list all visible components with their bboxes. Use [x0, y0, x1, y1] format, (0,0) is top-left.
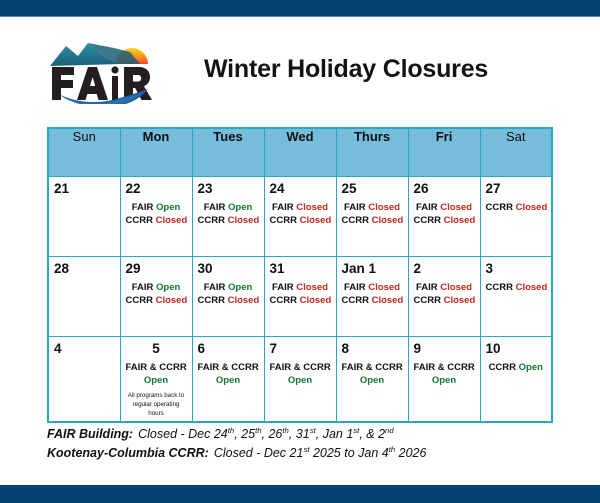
day-number: 28 [54, 261, 115, 277]
calendar-dow-wed: Wed [264, 128, 336, 176]
day-status-line: CCRR Closed [126, 295, 187, 308]
ordinal-suffix: th [389, 445, 395, 454]
status-badge: Closed [372, 215, 404, 226]
calendar-day-cell[interactable]: 26FAIR ClosedCCRR Closed [408, 176, 480, 256]
calendar-dow-mon: Mon [120, 128, 192, 176]
day-status-line: FAIR Closed [414, 202, 475, 215]
status-org-label: CCRR [489, 362, 519, 373]
calendar-day-cell[interactable]: 22FAIR OpenCCRR Closed [120, 176, 192, 256]
day-number: 27 [486, 181, 547, 197]
fair-logo-graphic [44, 36, 166, 104]
day-status-line: FAIR & CCRROpen [342, 362, 403, 387]
status-badge: Open [519, 362, 543, 373]
calendar-day-cell[interactable]: 25FAIR ClosedCCRR Closed [336, 176, 408, 256]
calendar-day-cell[interactable]: Jan 1FAIR ClosedCCRR Closed [336, 256, 408, 336]
day-status-line: CCRR Closed [198, 295, 259, 308]
day-status-list: FAIR ClosedCCRR Closed [414, 202, 475, 227]
calendar-week-row: 2829FAIR OpenCCRR Closed30FAIR OpenCCRR … [48, 256, 552, 336]
day-number: 10 [486, 341, 547, 357]
day-status-line: FAIR Closed [270, 282, 331, 295]
day-number: 8 [342, 341, 403, 357]
calendar-day-cell[interactable]: 30FAIR OpenCCRR Closed [192, 256, 264, 336]
day-status-line: CCRR Closed [198, 215, 259, 228]
status-org-label: FAIR & CCRR [342, 362, 403, 373]
calendar-day-cell[interactable]: 23FAIR OpenCCRR Closed [192, 176, 264, 256]
page-title: Winter Holiday Closures [204, 55, 488, 84]
calendar-dow-sun: Sun [48, 128, 120, 176]
day-status-line: CCRR Closed [342, 215, 403, 228]
status-org-label: CCRR [486, 202, 516, 213]
calendar-day-cell[interactable]: 4 [48, 336, 120, 422]
status-badge: Closed [296, 202, 328, 213]
calendar-dow-fri: Fri [408, 128, 480, 176]
day-status-line: CCRR Open [486, 362, 547, 375]
day-status-line: CCRR Closed [414, 295, 475, 308]
day-status-line: FAIR Open [126, 282, 187, 295]
day-number: 5 [126, 341, 187, 357]
day-status-list: FAIR & CCRROpen [414, 362, 475, 387]
status-badge: Open [228, 282, 252, 293]
calendar-day-cell[interactable]: 7FAIR & CCRROpen [264, 336, 336, 422]
status-badge: Open [414, 375, 475, 388]
day-status-list: FAIR OpenCCRR Closed [198, 282, 259, 307]
status-badge: Closed [444, 215, 476, 226]
day-status-line: FAIR Open [198, 202, 259, 215]
day-number: 26 [414, 181, 475, 197]
status-org-label: CCRR [270, 295, 300, 306]
status-org-label: CCRR [126, 295, 156, 306]
status-badge: Open [342, 375, 403, 388]
day-status-list: FAIR & CCRROpen [126, 362, 187, 387]
status-org-label: FAIR & CCRR [198, 362, 259, 373]
day-status-list: FAIR ClosedCCRR Closed [342, 202, 403, 227]
day-status-list: FAIR & CCRROpen [342, 362, 403, 387]
status-badge: Open [156, 202, 180, 213]
status-org-label: CCRR [126, 215, 156, 226]
calendar-day-cell[interactable]: 21 [48, 176, 120, 256]
ordinal-suffix: th [282, 426, 288, 435]
day-status-list: CCRR Closed [486, 282, 547, 295]
day-number: 23 [198, 181, 259, 197]
day-status-line: FAIR Open [126, 202, 187, 215]
status-badge: Closed [156, 215, 188, 226]
status-badge: Closed [440, 202, 472, 213]
status-org-label: CCRR [342, 295, 372, 306]
status-badge: Closed [228, 295, 260, 306]
day-number: 25 [342, 181, 403, 197]
day-status-line: FAIR Closed [414, 282, 475, 295]
day-status-line: FAIR Closed [270, 202, 331, 215]
status-badge: Closed [368, 282, 400, 293]
status-org-label: FAIR [344, 202, 368, 213]
status-badge: Open [228, 202, 252, 213]
status-badge: Closed [156, 295, 188, 306]
day-status-line: CCRR Closed [342, 295, 403, 308]
status-org-label: CCRR [198, 295, 228, 306]
status-badge: Closed [516, 282, 548, 293]
footnote-label: FAIR Building: [47, 427, 133, 441]
status-org-label: CCRR [270, 215, 300, 226]
calendar-dow-sat: Sat [480, 128, 552, 176]
day-number: 4 [54, 341, 115, 357]
ordinal-suffix: nd [385, 426, 394, 435]
calendar-header-row: SunMonTuesWedThursFriSat [48, 128, 552, 176]
day-status-list: FAIR ClosedCCRR Closed [270, 202, 331, 227]
ordinal-suffix: th [228, 426, 234, 435]
day-status-list: FAIR & CCRROpen [270, 362, 331, 387]
day-number: 24 [270, 181, 331, 197]
day-status-line: FAIR & CCRROpen [414, 362, 475, 387]
day-status-list: FAIR OpenCCRR Closed [198, 202, 259, 227]
status-badge: Closed [516, 202, 548, 213]
day-number: Jan 1 [342, 261, 403, 277]
status-org-label: FAIR [272, 202, 296, 213]
day-status-list: CCRR Open [486, 362, 547, 375]
ordinal-suffix: st [310, 426, 316, 435]
calendar-day-cell[interactable]: 2FAIR ClosedCCRR Closed [408, 256, 480, 336]
day-number: 2 [414, 261, 475, 277]
status-badge: Open [156, 282, 180, 293]
status-badge: Closed [296, 282, 328, 293]
calendar-week-row: 2122FAIR OpenCCRR Closed23FAIR OpenCCRR … [48, 176, 552, 256]
day-note: All programs back to regular operating h… [126, 392, 187, 419]
top-accent-bar [0, 0, 600, 17]
status-badge: Closed [440, 282, 472, 293]
day-status-line: FAIR & CCRROpen [126, 362, 187, 387]
day-number: 31 [270, 261, 331, 277]
calendar-footnotes: FAIR Building:Closed - Dec 24th, 25th, 2… [47, 425, 567, 464]
status-org-label: FAIR [132, 282, 156, 293]
day-number: 9 [414, 341, 475, 357]
day-number: 7 [270, 341, 331, 357]
status-badge: Closed [444, 295, 476, 306]
day-status-list: CCRR Closed [486, 202, 547, 215]
day-status-line: CCRR Closed [270, 295, 331, 308]
day-status-line: CCRR Closed [270, 215, 331, 228]
calendar-day-cell[interactable]: 10CCRR Open [480, 336, 552, 422]
footnote-label: Kootenay-Columbia CCRR: [47, 446, 209, 460]
day-status-list: FAIR ClosedCCRR Closed [414, 282, 475, 307]
fair-logo [44, 36, 166, 104]
day-status-list: FAIR ClosedCCRR Closed [270, 282, 331, 307]
calendar-day-cell[interactable]: 28 [48, 256, 120, 336]
day-status-line: FAIR & CCRROpen [198, 362, 259, 387]
status-org-label: CCRR [414, 295, 444, 306]
status-badge: Closed [300, 295, 332, 306]
footnote-value: Closed - Dec 24th, 25th, 26th, 31st, Jan… [138, 427, 394, 441]
status-org-label: CCRR [486, 282, 516, 293]
calendar-day-cell[interactable]: 3CCRR Closed [480, 256, 552, 336]
status-org-label: FAIR [416, 282, 440, 293]
ordinal-suffix: st [353, 426, 359, 435]
calendar-week-row: 45FAIR & CCRROpenAll programs back to re… [48, 336, 552, 422]
day-status-line: CCRR Closed [414, 215, 475, 228]
footnote-row: Kootenay-Columbia CCRR:Closed - Dec 21st… [47, 444, 567, 463]
day-status-line: FAIR Closed [342, 202, 403, 215]
status-org-label: CCRR [198, 215, 228, 226]
calendar-day-cell[interactable]: 24FAIR ClosedCCRR Closed [264, 176, 336, 256]
status-org-label: FAIR [272, 282, 296, 293]
day-status-list: FAIR OpenCCRR Closed [126, 282, 187, 307]
day-status-line: FAIR & CCRROpen [270, 362, 331, 387]
day-number: 3 [486, 261, 547, 277]
status-org-label: FAIR [204, 202, 228, 213]
day-status-list: FAIR OpenCCRR Closed [126, 202, 187, 227]
status-org-label: CCRR [414, 215, 444, 226]
calendar-day-cell[interactable]: 5FAIR & CCRROpenAll programs back to reg… [120, 336, 192, 422]
status-badge: Closed [372, 295, 404, 306]
footnote-row: FAIR Building:Closed - Dec 24th, 25th, 2… [47, 425, 567, 444]
status-org-label: FAIR [344, 282, 368, 293]
ordinal-suffix: st [303, 445, 309, 454]
day-status-line: CCRR Closed [126, 215, 187, 228]
status-org-label: FAIR [132, 202, 156, 213]
footnote-value: Closed - Dec 21st 2025 to Jan 4th 2026 [214, 446, 427, 460]
day-status-line: FAIR Closed [342, 282, 403, 295]
status-badge: Open [126, 375, 187, 388]
day-status-line: CCRR Closed [486, 282, 547, 295]
status-badge: Closed [368, 202, 400, 213]
status-org-label: FAIR [416, 202, 440, 213]
day-number: 29 [126, 261, 187, 277]
calendar-day-cell[interactable]: 29FAIR OpenCCRR Closed [120, 256, 192, 336]
day-number: 21 [54, 181, 115, 197]
status-badge: Closed [228, 215, 260, 226]
calendar-day-cell[interactable]: 6FAIR & CCRROpen [192, 336, 264, 422]
day-status-line: FAIR Open [198, 282, 259, 295]
calendar-day-cell[interactable]: 31FAIR ClosedCCRR Closed [264, 256, 336, 336]
calendar-day-cell[interactable]: 8FAIR & CCRROpen [336, 336, 408, 422]
status-org-label: FAIR & CCRR [414, 362, 475, 373]
status-org-label: FAIR [204, 282, 228, 293]
status-org-label: CCRR [342, 215, 372, 226]
status-badge: Closed [300, 215, 332, 226]
day-number: 22 [126, 181, 187, 197]
status-badge: Open [270, 375, 331, 388]
calendar-dow-thurs: Thurs [336, 128, 408, 176]
day-number: 30 [198, 261, 259, 277]
day-status-list: FAIR & CCRROpen [198, 362, 259, 387]
status-badge: Open [198, 375, 259, 388]
calendar-day-cell[interactable]: 27CCRR Closed [480, 176, 552, 256]
ordinal-suffix: th [255, 426, 261, 435]
page-header: Winter Holiday Closures [0, 17, 600, 122]
status-org-label: FAIR & CCRR [126, 362, 187, 373]
bottom-accent-bar [0, 485, 600, 503]
closures-calendar: SunMonTuesWedThursFriSat 2122FAIR OpenCC… [47, 127, 553, 423]
day-status-line: CCRR Closed [486, 202, 547, 215]
calendar-day-cell[interactable]: 9FAIR & CCRROpen [408, 336, 480, 422]
day-number: 6 [198, 341, 259, 357]
day-status-list: FAIR ClosedCCRR Closed [342, 282, 403, 307]
calendar-dow-tues: Tues [192, 128, 264, 176]
status-org-label: FAIR & CCRR [270, 362, 331, 373]
